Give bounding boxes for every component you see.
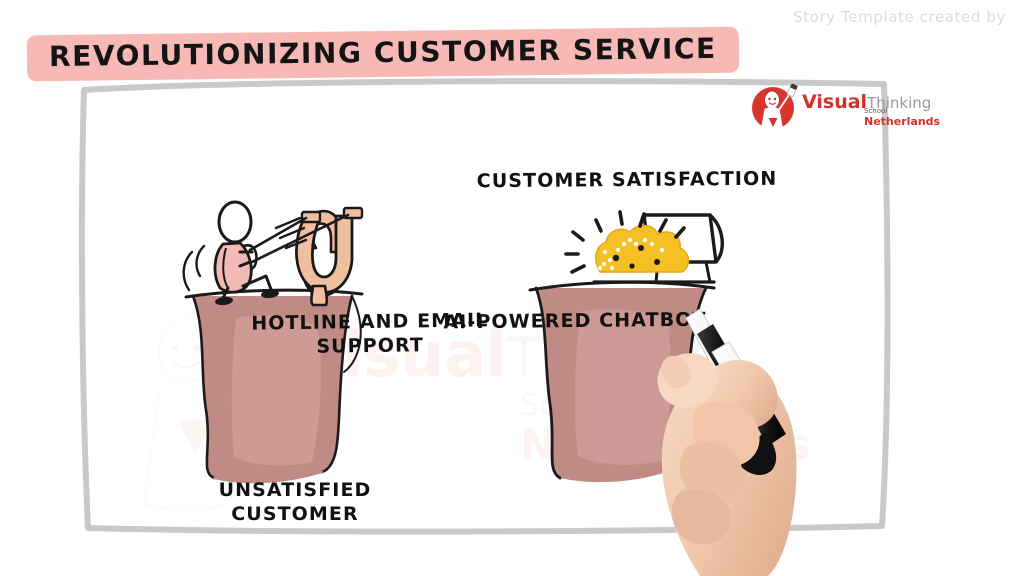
- little-finger: [672, 489, 731, 544]
- label-hotline-and-email-support: HOTLINE AND EMAIL SUPPORT: [235, 308, 506, 360]
- story-template-credit: Story Template created by: [793, 8, 1006, 26]
- slide-title-banner: REVOLUTIONIZING CUSTOMER SERVICE: [27, 27, 739, 82]
- motion-lines-left: [184, 246, 204, 290]
- visual-thinking-school-logo: VisualThinking School Netherlands: [752, 82, 932, 140]
- logo-netherlands-text: Netherlands: [864, 115, 940, 128]
- whiteboard-marker: [686, 309, 786, 475]
- chatbot-screen: [594, 215, 722, 282]
- label-customer-satisfaction: CUSTOMER SATISFACTION: [452, 166, 802, 193]
- watermark-netherlands: Netherlands: [520, 420, 811, 469]
- whiteboard-scene: Story Template created by REVOLUTIONIZIN…: [0, 0, 1024, 576]
- logo-school-text: School: [864, 107, 887, 115]
- logo-person-mark-icon: [752, 82, 800, 138]
- middle-finger: [693, 401, 760, 466]
- speed-lines-left: [276, 218, 306, 248]
- ring-finger: [680, 442, 743, 502]
- watermark-thinking: Thinking: [507, 326, 738, 389]
- shine-lines: [566, 212, 684, 272]
- page-title: REVOLUTIONIZING CUSTOMER SERVICE: [49, 35, 717, 71]
- thumb-nail: [655, 350, 697, 394]
- unsatisfied-customer-figure: [215, 202, 280, 306]
- logo-visual-text: Visual: [802, 91, 867, 113]
- watermark-school: School: [520, 388, 620, 423]
- hand-palm: [662, 370, 797, 576]
- ai-golden-glow: [596, 225, 689, 272]
- label-unsatisfied-customer: UNSATISFIED CUSTOMER: [200, 478, 390, 527]
- thumb: [658, 353, 718, 407]
- index-finger: [710, 360, 778, 429]
